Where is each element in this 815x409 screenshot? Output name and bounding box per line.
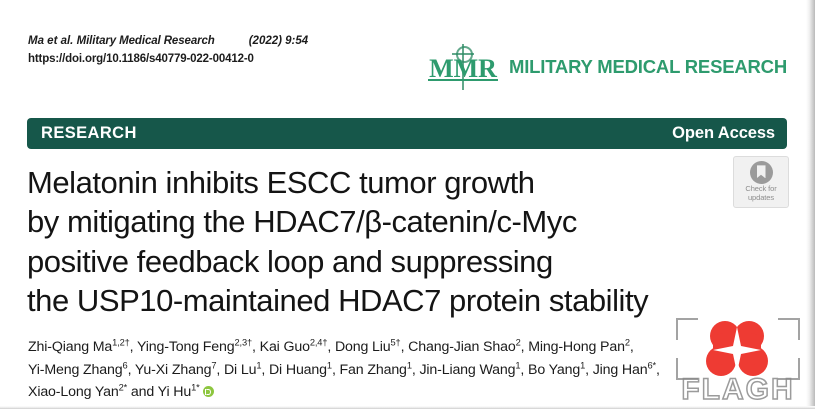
author-name: Jin-Liang Wang [419,362,515,378]
author-affiliation-marker: 1,2† [112,337,130,347]
author-affiliation-marker: 1 [256,360,261,370]
author-affiliation-marker: 5† [391,337,401,347]
article-title: Melatonin inhibits ESCC tumor growth by … [27,163,727,320]
author-name: Zhi-Qiang Ma [28,339,112,355]
author-line-1: Zhi-Qiang Ma1,2†, Ying-Tong Feng2,3†, Ka… [28,336,768,359]
crossmark-icon [750,161,773,184]
author-affiliation-marker: 1 [580,360,585,370]
bracket-bottom-right [778,358,800,380]
author-affiliation-marker: 2,4† [310,337,328,347]
mmr-logo-underline [428,79,498,81]
author-affiliation-marker: 2 [516,337,521,347]
crossmark-label: Check for updates [745,185,776,202]
author-affiliation-marker: 2 [625,337,630,347]
running-head: Ma et al. Military Medical Research(2022… [28,33,458,67]
author-name: Yi-Meng Zhang [28,362,123,378]
author-affiliation-marker: 7 [211,360,216,370]
author-affiliation-marker: 1 [515,360,520,370]
author-affiliation-marker: 2,3† [235,337,253,347]
author-affiliation-marker: 6 [123,360,128,370]
author-affiliation-marker: 6* [648,360,657,370]
journal-brand: MMR MILITARY MEDICAL RESEARCH [426,44,787,90]
page-right-edge [806,0,815,409]
author-name: Di Lu [224,362,256,378]
running-head-journal: Military Medical Research [77,35,215,47]
journal-title: MILITARY MEDICAL RESEARCH [509,56,787,78]
author-affiliation-marker: 1 [327,360,332,370]
author-name: Dong Liu [335,339,391,355]
author-name: Xiao-Long Yan [28,384,119,400]
mmr-logo-icon: MMR [426,44,500,90]
article-title-line-2: by mitigating the HDAC7/β-catenin/c-Myc [27,202,727,241]
author-name: Kai Guo [260,339,310,355]
orcid-icon[interactable] [203,386,214,397]
running-head-authors: Ma et al. [28,35,73,47]
crossmark-label-line2: updates [748,193,774,202]
doi-link[interactable]: https://doi.org/10.1186/s40779-022-00412… [28,51,458,68]
article-title-line-1: Melatonin inhibits ESCC tumor growth [27,163,727,202]
running-head-volume: (2022) 9:54 [249,35,308,47]
author-name: Chang-Jian Shao [408,339,515,355]
article-type-banner: RESEARCH Open Access [27,118,787,149]
article-type-label: RESEARCH [41,124,137,143]
author-affiliation-marker: 1* [191,383,200,393]
article-title-line-3: positive feedback loop and suppressing [27,242,727,281]
bracket-top-right [778,318,800,340]
author-line-2: Yi-Meng Zhang6, Yu-Xi Zhang7, Di Lu1, Di… [28,359,768,382]
document-page: Ma et al. Military Medical Research(2022… [0,0,815,409]
author-name: Yi Hu [158,384,191,400]
author-name: Ming-Hong Pan [528,339,625,355]
author-name: Jing Han [593,362,648,378]
check-for-updates-badge[interactable]: Check for updates [733,156,789,208]
open-access-label: Open Access [672,124,775,143]
author-name: Fan Zhang [340,362,407,378]
author-name: Yu-Xi Zhang [135,362,211,378]
author-name: Di Huang [269,362,327,378]
running-head-citation: Ma et al. Military Medical Research(2022… [28,33,458,50]
author-affiliation-marker: 2* [119,383,128,393]
author-name: Ying-Tong Feng [137,339,235,355]
article-title-line-4: the USP10-maintained HDAC7 protein stabi… [27,281,727,320]
author-line-3: Xiao-Long Yan2* and Yi Hu1* [28,381,768,404]
author-name: Bo Yang [528,362,580,378]
author-list: Zhi-Qiang Ma1,2†, Ying-Tong Feng2,3†, Ka… [28,336,768,404]
author-affiliation-marker: 1 [407,360,412,370]
